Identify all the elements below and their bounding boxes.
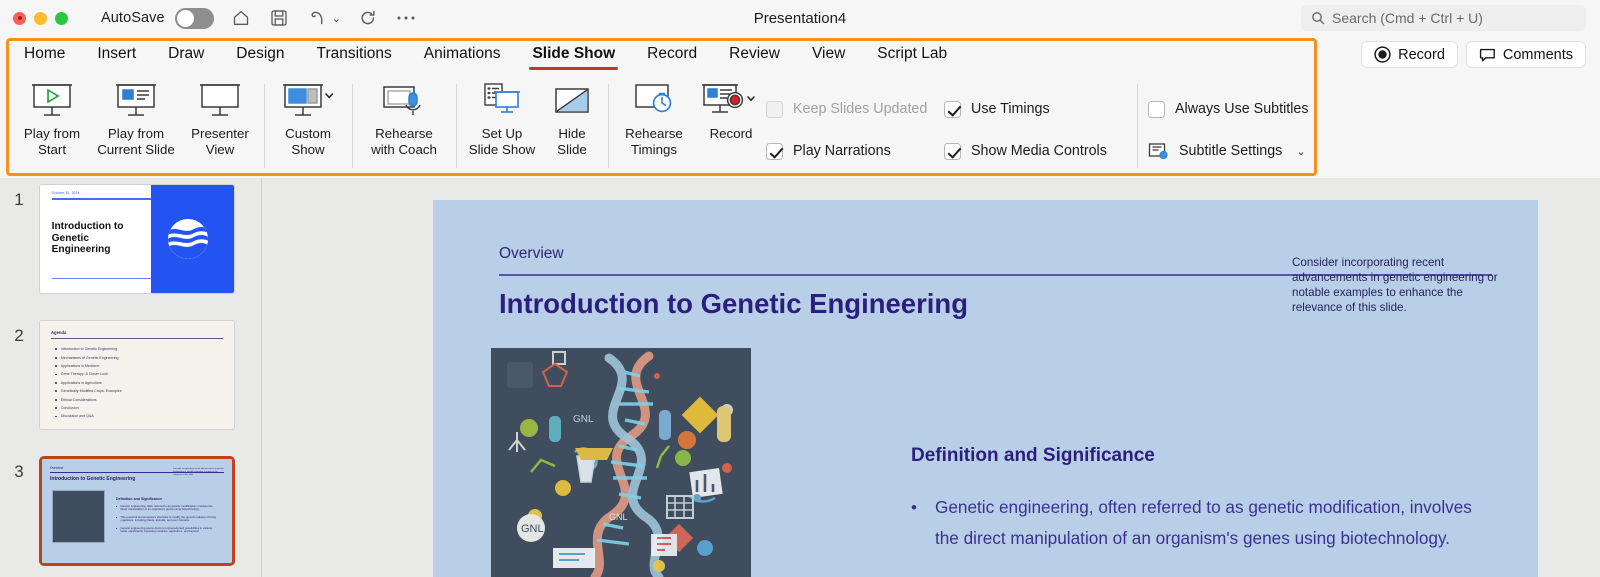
record-circle-icon	[1374, 46, 1391, 63]
use-timings-row[interactable]: Use Timings	[944, 88, 1107, 130]
hide-slide-icon	[550, 78, 594, 124]
undo-dropdown-caret-icon[interactable]: ⌄	[332, 12, 341, 25]
ribbon-divider-5	[1137, 84, 1138, 168]
ribbon-group-setup: Set UpSlide Show HideSlide	[460, 72, 600, 178]
set-up-slide-show-label: Set UpSlide Show	[469, 126, 536, 157]
undo-icon[interactable]	[306, 7, 328, 29]
minimize-window-button[interactable]	[34, 12, 47, 25]
hide-slide-label: HideSlide	[557, 126, 587, 157]
list-item: Discussion and Q&A	[51, 414, 223, 418]
search-icon	[1311, 11, 1325, 25]
thumbnail-2-heading: Agenda	[51, 330, 223, 335]
play-narrations-checkbox[interactable]	[766, 143, 783, 160]
always-use-subtitles-label: Always Use Subtitles	[1175, 101, 1309, 117]
slide-title[interactable]: Introduction to Genetic Engineering	[499, 288, 968, 320]
custom-show-label: CustomShow	[285, 126, 331, 157]
rehearse-with-coach-button[interactable]: Rehearsewith Coach	[356, 72, 452, 172]
thumbnail-1-date: October 30, 2024	[52, 191, 80, 195]
thumbnail-3-note: Consider incorporating recent advancemen…	[173, 468, 225, 477]
show-media-controls-row[interactable]: Show Media Controls	[944, 130, 1107, 172]
set-up-slide-show-button[interactable]: Set UpSlide Show	[460, 72, 544, 172]
show-media-controls-checkbox[interactable]	[944, 143, 961, 160]
ribbon-divider-3	[456, 84, 457, 168]
thumbnail-2-canvas[interactable]: Agenda Introduction to Genetic Engineeri…	[39, 320, 235, 430]
subtitle-settings-chevron-down-icon[interactable]: ⌄	[1296, 145, 1305, 158]
tab-transitions[interactable]: Transitions	[301, 36, 408, 72]
tab-draw[interactable]: Draw	[152, 36, 220, 72]
subtitle-settings-icon	[1148, 142, 1169, 161]
ribbon-group-coach: Rehearsewith Coach	[356, 72, 452, 178]
dna-artwork-icon: GNL GNL GNL	[491, 348, 751, 577]
thumbnail-3-body-heading: Definition and Significance	[116, 497, 216, 501]
keep-slides-updated-row[interactable]: Keep Slides Updated	[766, 88, 927, 130]
comments-button-label: Comments	[1503, 47, 1573, 63]
play-from-current-slide-label: Play fromCurrent Slide	[97, 126, 175, 157]
ribbon-group-recording: RehearseTimings Record	[612, 72, 766, 178]
list-item: Applications in Agriculture	[51, 381, 223, 385]
svg-text:GNL: GNL	[609, 512, 628, 522]
tab-design[interactable]: Design	[220, 36, 300, 72]
redo-icon[interactable]	[357, 7, 379, 29]
slide-dna-illustration[interactable]: GNL GNL GNL	[491, 348, 751, 577]
save-icon[interactable]	[268, 7, 290, 29]
rehearse-timings-icon	[630, 78, 678, 124]
list-item: Genetic engineering, often referred to a…	[116, 505, 216, 512]
slide-editing-canvas[interactable]: Overview Introduction to Genetic Enginee…	[263, 178, 1600, 577]
rehearse-timings-label: RehearseTimings	[625, 126, 683, 157]
search-input[interactable]: Search (Cmd + Ctrl + U)	[1301, 5, 1586, 31]
thumbnail-3-image	[52, 490, 105, 543]
workspace: 1 October 30, 2024 Introduction to Genet…	[0, 178, 1600, 577]
tab-animations[interactable]: Animations	[408, 36, 517, 72]
powerpoint-window: AutoSave ⌄	[0, 0, 1600, 577]
thumbnail-number-1: 1	[8, 190, 30, 210]
record-button[interactable]: Record	[1361, 41, 1458, 68]
ribbon-group-custom-show: CustomShow	[266, 72, 350, 178]
svg-text:GNL: GNL	[573, 414, 594, 425]
slide-bullet-1-text: Genetic engineering, often referred to a…	[935, 492, 1491, 554]
window-controls	[13, 12, 68, 25]
rehearse-timings-button[interactable]: RehearseTimings	[612, 72, 696, 172]
play-from-current-slide-button[interactable]: Play fromCurrent Slide	[94, 72, 178, 172]
play-narrations-label: Play Narrations	[793, 143, 891, 159]
list-item: Genetic engineering opens doors to unpre…	[116, 527, 216, 534]
record-slide-show-button[interactable]: Record	[696, 72, 766, 172]
ribbon-group-start-show: Play fromStart Play fromCurrent Slide	[10, 72, 262, 178]
ribbon-subtitles-column: Always Use Subtitles Subtitle Settings ⌄	[1148, 88, 1309, 172]
svg-text:GNL: GNL	[521, 523, 544, 535]
more-icon[interactable]	[395, 7, 417, 29]
bullet-marker: •	[911, 492, 917, 554]
ribbon-checkbox-column-1: Keep Slides Updated Play Narrations	[766, 88, 927, 172]
presenter-view-icon	[196, 78, 244, 124]
list-item: Mechanisms of Genetic Engineering	[51, 356, 223, 360]
custom-show-button[interactable]: CustomShow	[266, 72, 350, 172]
set-up-slide-show-icon	[478, 78, 526, 124]
thumbnail-number-2: 2	[8, 326, 30, 346]
ribbon-tab-bar: Home Insert Draw Design Transitions Anim…	[0, 36, 1600, 72]
use-timings-label: Use Timings	[971, 101, 1050, 117]
play-from-start-icon	[28, 78, 76, 124]
keep-slides-updated-label: Keep Slides Updated	[793, 101, 927, 117]
slide-bullet-1[interactable]: • Genetic engineering, often referred to…	[911, 492, 1491, 554]
slide-body-heading[interactable]: Definition and Significance	[911, 445, 1155, 467]
hide-slide-button[interactable]: HideSlide	[544, 72, 600, 172]
ribbon-divider-4	[608, 84, 609, 168]
tab-slide-show[interactable]: Slide Show	[516, 36, 631, 72]
play-from-start-button[interactable]: Play fromStart	[10, 72, 94, 172]
always-use-subtitles-row[interactable]: Always Use Subtitles	[1148, 88, 1309, 130]
ribbon-right-actions: Record Comments	[1361, 41, 1586, 68]
maximize-window-button[interactable]	[55, 12, 68, 25]
slide-thumbnail-pane[interactable]: 1 October 30, 2024 Introduction to Genet…	[0, 178, 262, 577]
list-item: Introduction to Genetic Engineering	[51, 347, 223, 351]
play-from-current-slide-icon	[112, 78, 160, 124]
subtitle-settings-label: Subtitle Settings	[1179, 143, 1282, 159]
tab-review[interactable]: Review	[713, 36, 796, 72]
thumbnail-1-canvas[interactable]: October 30, 2024 Introduction to Genetic…	[39, 184, 235, 294]
thumbnail-1-logo-icon	[168, 219, 208, 259]
title-bar: AutoSave ⌄	[0, 0, 1600, 36]
use-timings-checkbox[interactable]	[944, 101, 961, 118]
autosave-label: AutoSave	[101, 10, 165, 26]
ribbon-toolbar: Play fromStart Play fromCurrent Slide	[0, 72, 1600, 178]
tab-script-lab[interactable]: Script Lab	[861, 36, 963, 72]
comment-bubble-icon	[1479, 47, 1496, 63]
list-item: Genetically Modified Crops: Examples	[51, 389, 223, 393]
ribbon-divider-1	[264, 84, 265, 168]
subtitle-settings-row[interactable]: Subtitle Settings ⌄	[1148, 130, 1309, 172]
thumbnail-1-title: Introduction to Genetic Engineering	[52, 221, 145, 256]
list-item: Gene Therapy: A Closer Look	[51, 372, 223, 376]
thumbnail-3-canvas[interactable]: Overview Introduction to Genetic Enginee…	[39, 456, 235, 566]
ribbon-divider-2	[352, 84, 353, 168]
tab-view[interactable]: View	[796, 36, 861, 72]
list-item: This powerful tool empowers scientists t…	[116, 516, 216, 523]
ribbon-tabs: Home Insert Draw Design Transitions Anim…	[8, 36, 963, 72]
tab-record[interactable]: Record	[631, 36, 713, 72]
close-window-button[interactable]	[13, 12, 26, 25]
slide-overview-label[interactable]: Overview	[499, 245, 564, 263]
play-narrations-row[interactable]: Play Narrations	[766, 130, 927, 172]
always-use-subtitles-checkbox[interactable]	[1148, 101, 1165, 118]
presenter-view-button[interactable]: PresenterView	[178, 72, 262, 172]
record-slide-show-label: Record	[710, 126, 753, 142]
ribbon-checkbox-column-2: Use Timings Show Media Controls	[944, 88, 1107, 172]
show-media-controls-label: Show Media Controls	[971, 143, 1107, 159]
slide-note-text[interactable]: Consider incorporating recent advancemen…	[1292, 255, 1500, 315]
comments-button[interactable]: Comments	[1466, 41, 1586, 68]
rehearse-with-coach-label: Rehearsewith Coach	[371, 126, 437, 157]
play-from-start-label: Play fromStart	[24, 126, 80, 157]
keep-slides-updated-checkbox[interactable]	[766, 101, 783, 118]
list-item: Conclusion	[51, 406, 223, 410]
current-slide[interactable]: Overview Introduction to Genetic Enginee…	[433, 200, 1538, 577]
presenter-view-label: PresenterView	[191, 126, 249, 157]
list-item: Ethical Considerations	[51, 398, 223, 402]
record-slide-show-icon	[700, 78, 762, 124]
record-button-label: Record	[1398, 47, 1445, 63]
search-placeholder: Search (Cmd + Ctrl + U)	[1332, 10, 1483, 26]
tab-home[interactable]: Home	[8, 36, 81, 72]
home-icon[interactable]	[230, 7, 252, 29]
list-item: Applications in Medicine	[51, 364, 223, 368]
autosave-toggle[interactable]	[175, 8, 214, 29]
rehearse-with-coach-icon	[378, 78, 430, 124]
thumbnail-number-3: 3	[8, 462, 30, 482]
custom-show-icon	[281, 78, 335, 124]
tab-insert[interactable]: Insert	[81, 36, 152, 72]
